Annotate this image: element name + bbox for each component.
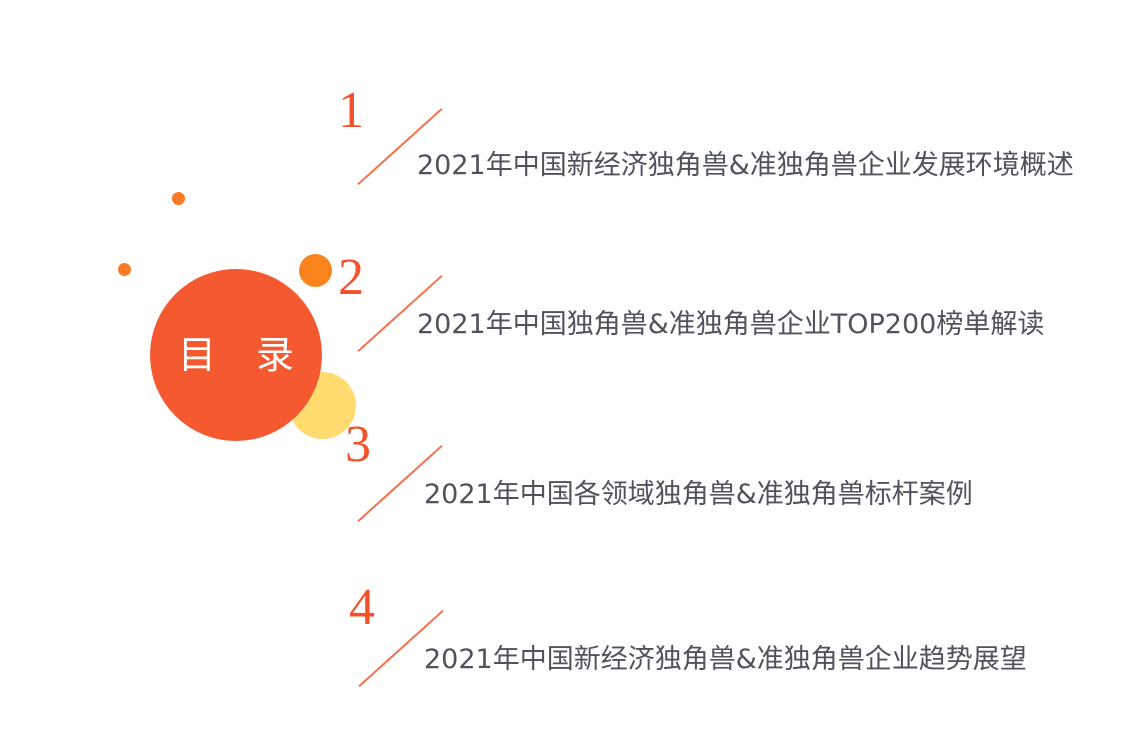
toc-entry-3-number: 3 [345,419,371,471]
small-dot-upper-icon [172,192,185,205]
toc-entry-4-number: 4 [349,582,375,634]
toc-entry-3-label[interactable]: 2021年中国各领域独角兽&准独角兽标杆案例 [424,481,973,508]
toc-entry-1-number: 1 [338,85,364,137]
toc-badge-circle: 目 录 [150,269,322,441]
table-of-contents-slide: 目 录 1 2021年中国新经济独角兽&准独角兽企业发展环境概述 2 2021年… [0,0,1134,737]
toc-entry-4-label[interactable]: 2021年中国新经济独角兽&准独角兽企业趋势展望 [424,646,1027,673]
toc-entry-2-number: 2 [338,252,364,304]
toc-entry-1-label[interactable]: 2021年中国新经济独角兽&准独角兽企业发展环境概述 [417,152,1074,179]
toc-entry-2-label[interactable]: 2021年中国独角兽&准独角兽企业TOP200榜单解读 [417,311,1044,338]
toc-badge-label: 目 录 [164,336,308,374]
medium-orange-circle-icon [299,254,332,287]
small-dot-left-icon [118,263,131,276]
